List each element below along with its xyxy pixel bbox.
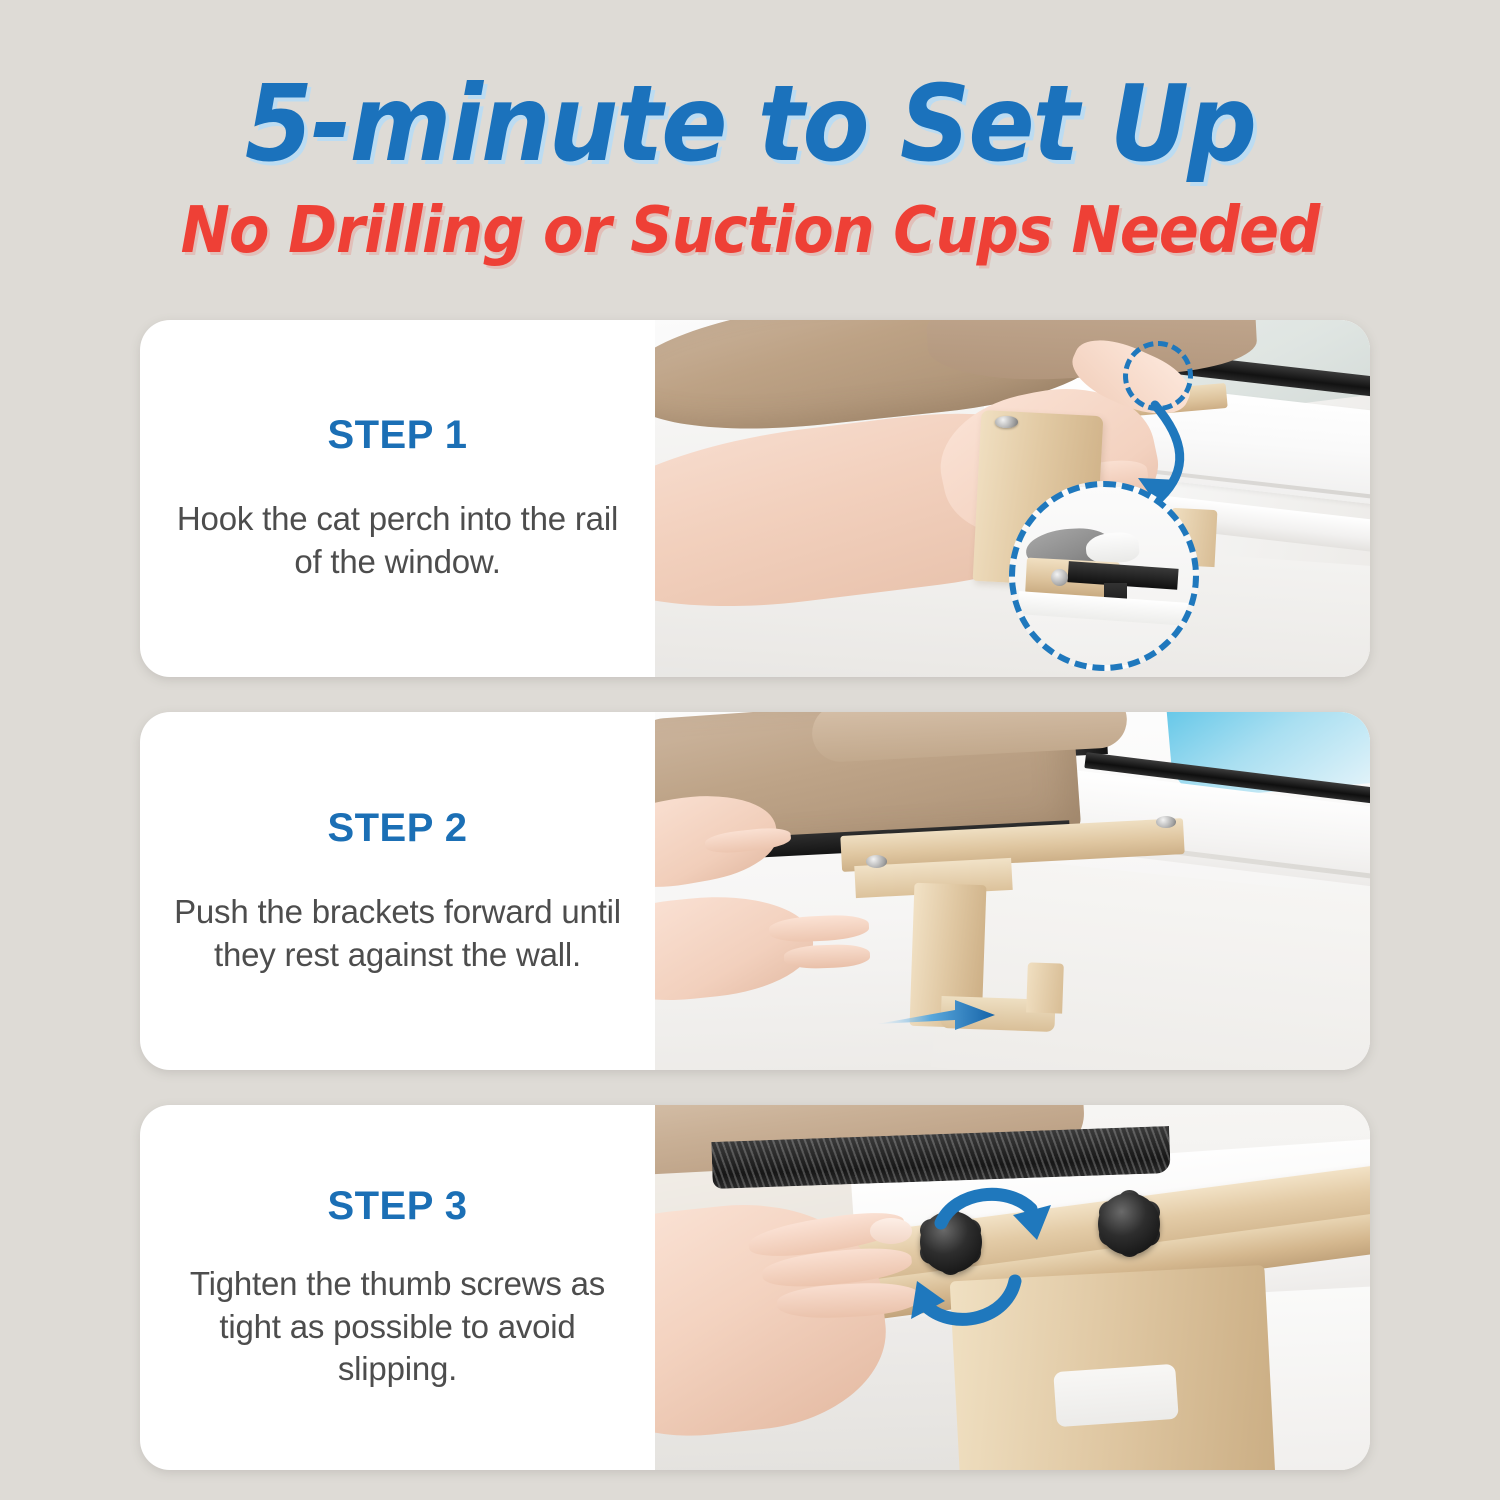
step-1-photo — [655, 320, 1370, 677]
photo3-bracket-notch — [1054, 1364, 1179, 1427]
step-1-text-panel: STEP 1 Hook the cat perch into the rail … — [140, 320, 655, 677]
step-3-text-panel: STEP 3 Tighten the thumb screws as tight… — [140, 1105, 655, 1470]
knob-core — [920, 1211, 982, 1273]
step-card-3: STEP 3 Tighten the thumb screws as tight… — [140, 1105, 1370, 1470]
page-title: 5-minute to Set Up — [53, 72, 1448, 177]
photo3-thumbnail — [870, 1218, 913, 1244]
step-card-2: STEP 2 Push the brackets forward until t… — [140, 712, 1370, 1070]
photo1-zoom-rail — [1018, 591, 1190, 626]
magnified-hook-detail — [1009, 481, 1199, 671]
step-card-1: STEP 1 Hook the cat perch into the rail … — [140, 320, 1370, 677]
step-2-label: STEP 2 — [327, 806, 467, 851]
step-3-photo — [655, 1105, 1370, 1470]
infographic-page: 5-minute to Set Up No Drilling or Suctio… — [0, 0, 1500, 1500]
step-1-description: Hook the cat perch into the rail of the … — [162, 498, 633, 584]
step-2-text-panel: STEP 2 Push the brackets forward until t… — [140, 712, 655, 1070]
knob-core — [1098, 1193, 1160, 1255]
page-subtitle: No Drilling or Suction Cups Needed — [60, 199, 1440, 263]
heading-block: 5-minute to Set Up No Drilling or Suctio… — [0, 0, 1500, 263]
step-2-photo — [655, 712, 1370, 1070]
step-1-label: STEP 1 — [327, 413, 467, 458]
step-3-description: Tighten the thumb screws as tight as pos… — [162, 1263, 633, 1392]
step-3-label: STEP 3 — [327, 1184, 467, 1229]
photo2-screw-right — [1156, 816, 1176, 828]
thumb-screw-knob-left — [920, 1211, 982, 1273]
step-2-description: Push the brackets forward until they res… — [162, 891, 633, 977]
photo2-hook-tip — [1026, 962, 1063, 1013]
thumb-screw-knob-right — [1098, 1193, 1160, 1255]
